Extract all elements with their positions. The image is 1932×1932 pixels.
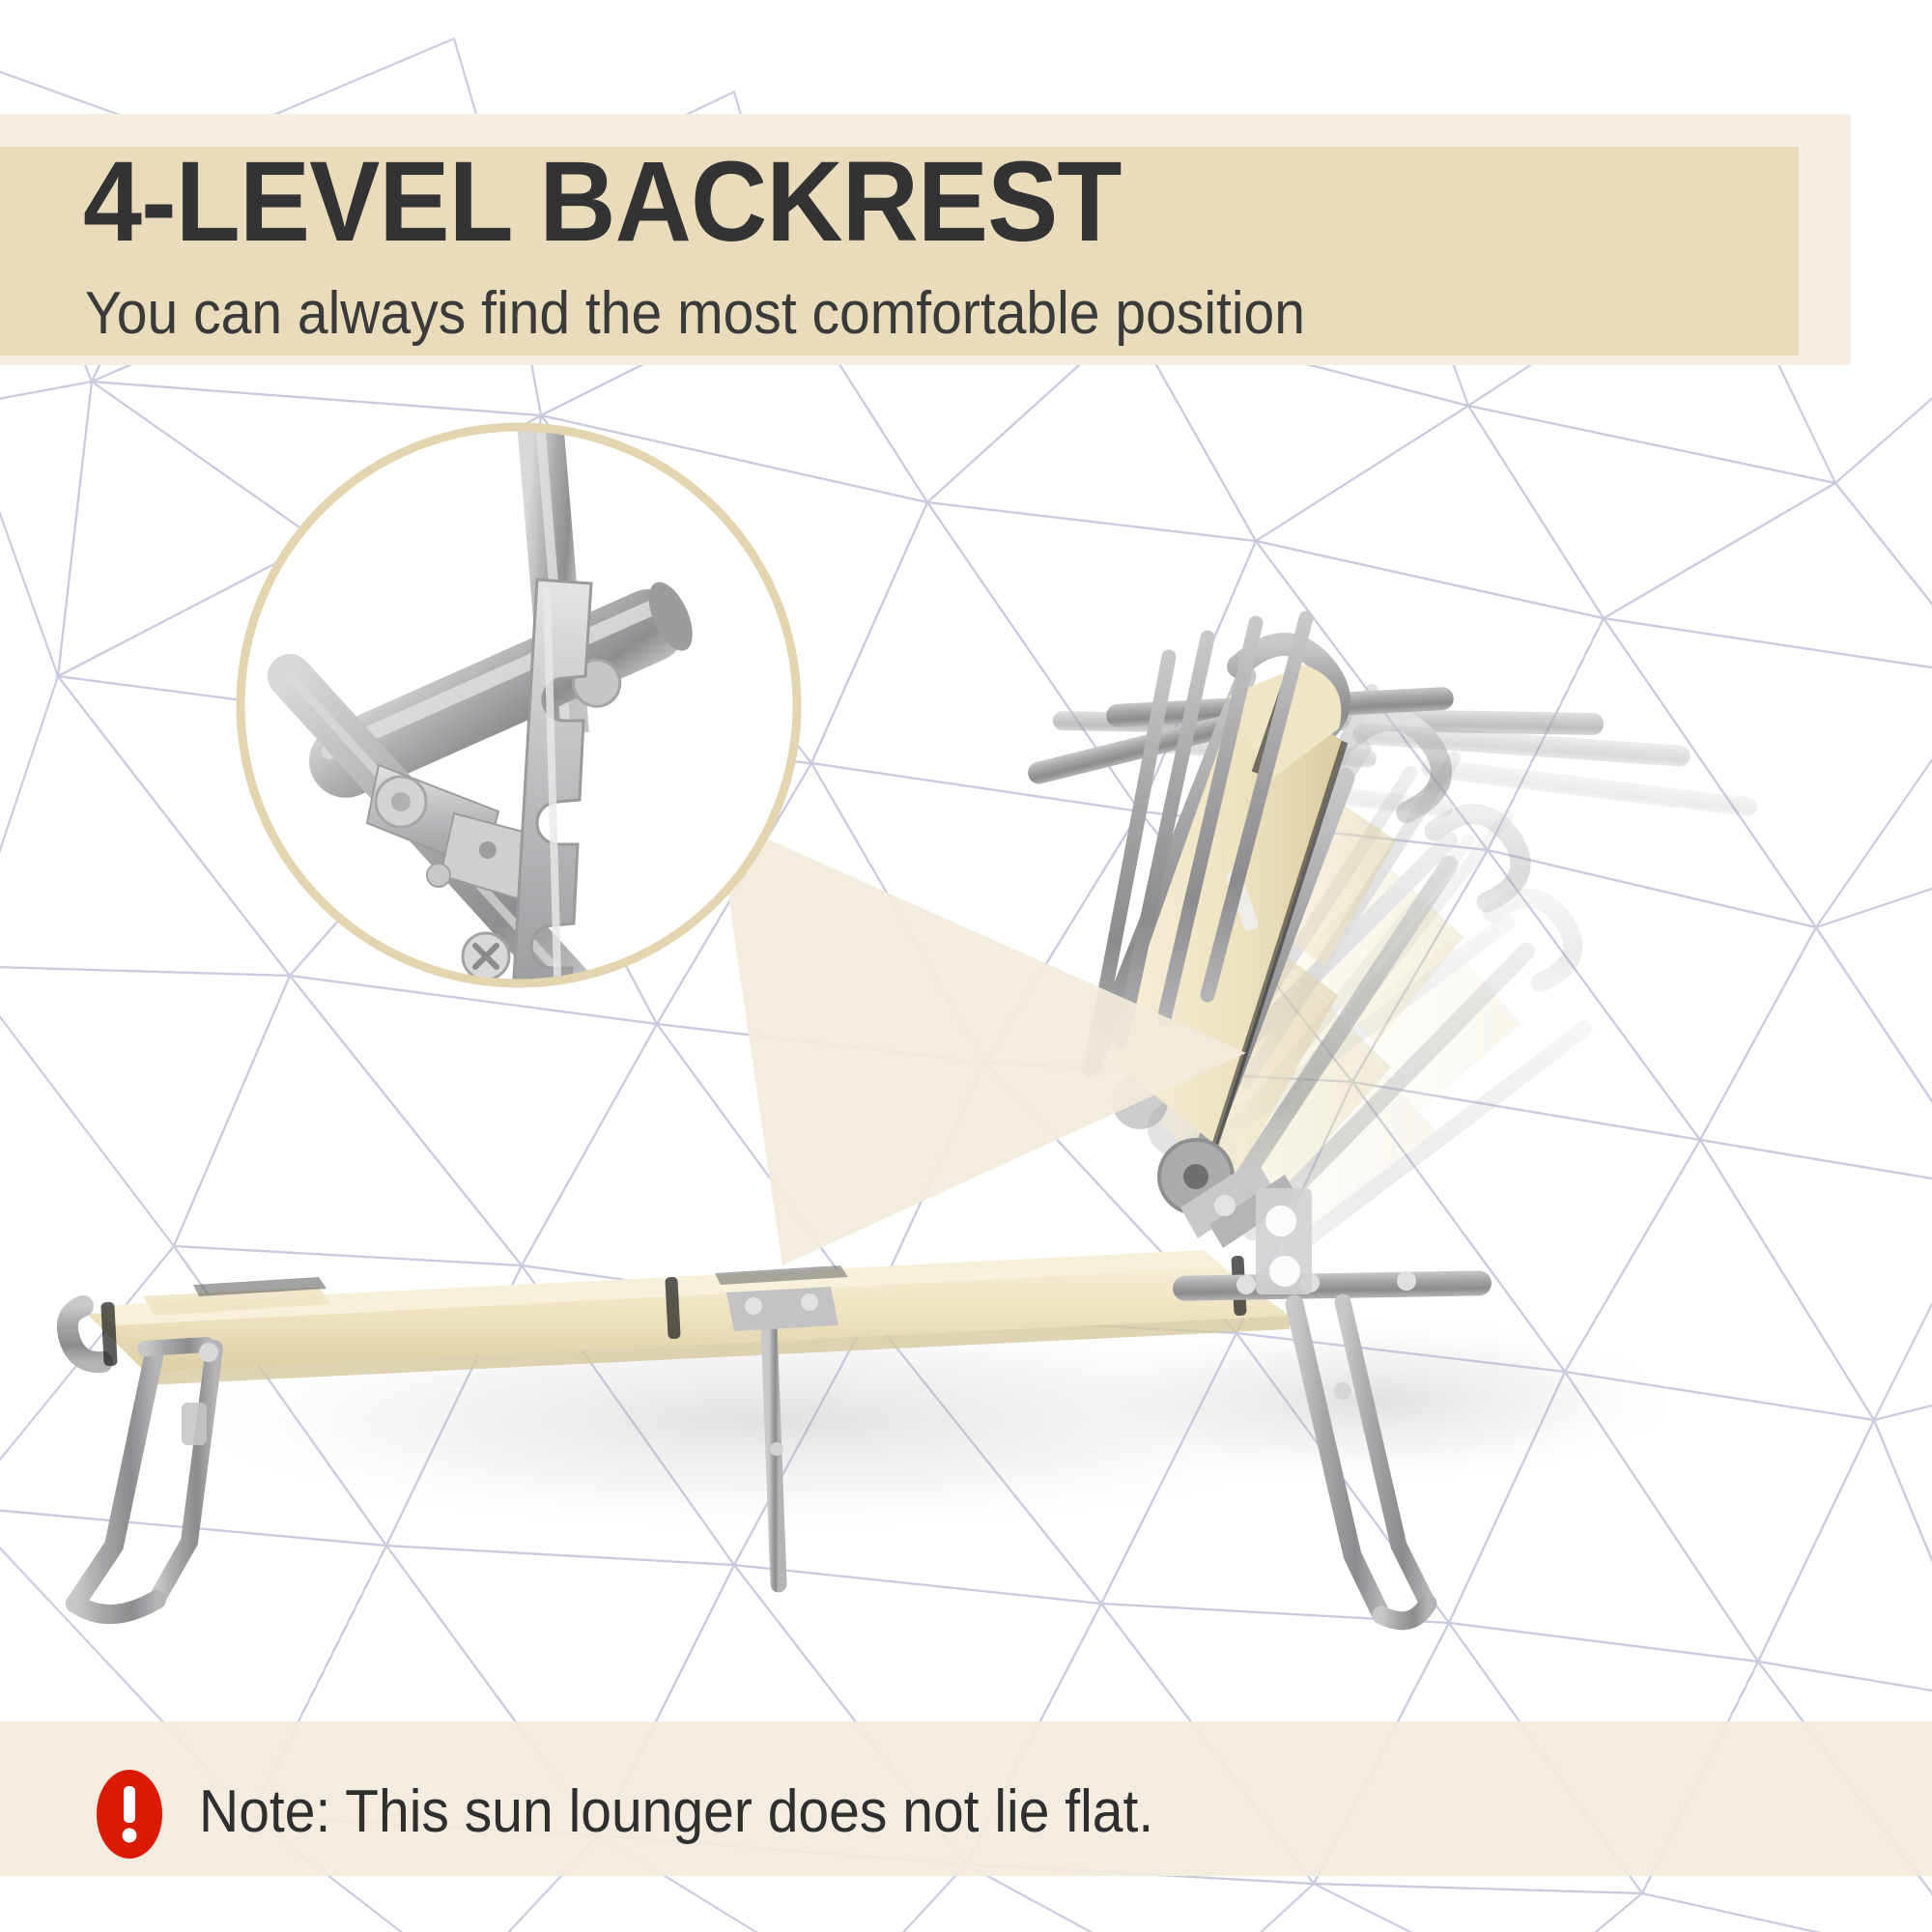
poster-canvas: 4-LEVEL BACKREST You can always find the… [0,0,1932,1932]
detail-callout [0,0,1932,1932]
callout-cone [717,816,1246,1265]
exclamation-icon [97,1770,162,1859]
phillips-screw [463,933,509,980]
note-text: Note: This sun lounger does not lie flat… [199,1782,1153,1842]
